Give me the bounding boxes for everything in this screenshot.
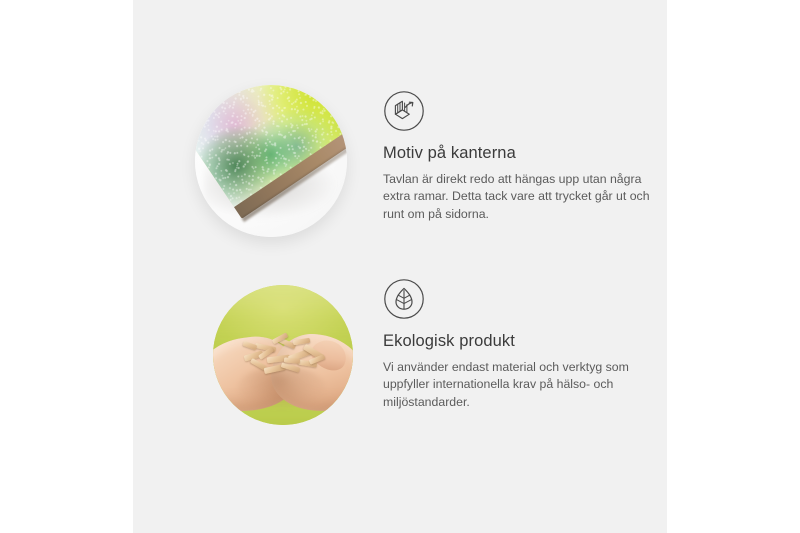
feature-text-column-2: Ekologisk produkt Vi använder endast mat… [383,278,668,411]
wood-chip [242,341,257,350]
hands-holding-wood-chips-photo [213,285,353,425]
wood-chip [284,357,300,363]
leaf-icon [383,278,425,320]
wood-chip-pile [241,330,328,380]
feature-title: Motiv på kanterna [383,144,668,164]
canvas-photo-scene [195,85,347,237]
panel-background [133,0,667,533]
feature-text-column-1: Motiv på kanterna Tavlan är direkt redo … [383,90,668,223]
meadow-background [213,285,353,425]
feature-description: Tavlan är direkt redo att hängas upp uta… [383,171,651,223]
product-feature-banner: Motiv på kanterna Tavlan är direkt redo … [0,0,800,533]
wood-chip [293,338,311,345]
feature-title: Ekologisk produkt [383,332,668,352]
canvas-print-corner-photo [195,85,347,237]
feature-description: Vi använder endast material och verktyg … [383,359,651,411]
canvas-wrapped-edges-icon [383,90,425,132]
